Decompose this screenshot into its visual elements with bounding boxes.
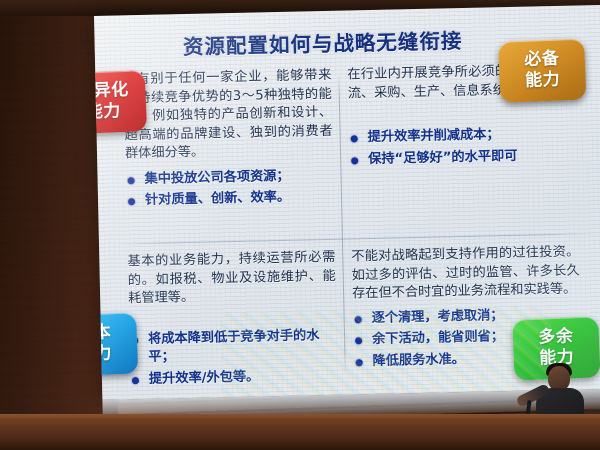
screenshot-root: 资源配置如何与战略无缝衔接 有别于任何一家企业，能够带来可持续竞争优势的3～5种… [0, 0, 600, 450]
bullet-dot-icon [128, 199, 135, 206]
vertical-divider [338, 73, 346, 375]
slide-title: 资源配置如何与战略无缝衔接 [122, 23, 523, 62]
list-item: 提升效率/外包等。 [130, 366, 338, 389]
bullet-text: 集中投放公司各项资源； [144, 169, 289, 187]
horizontal-divider [115, 233, 595, 244]
badge-differentiating-capability: 差异化 能力 [94, 70, 147, 134]
list-item: 提升效率并削减成本； [349, 125, 577, 148]
quadrant-top-left-paragraph: 有别于任何一家企业，能够带来可持续竞争优势的3～5种独特的能力。例如独特的产品创… [123, 67, 333, 164]
badge-line-2: 能力 [503, 69, 582, 93]
bullet-dot-icon [132, 377, 139, 384]
bullet-dot-icon [128, 177, 135, 184]
badge-essential-capability: 必备 能力 [498, 39, 586, 103]
bullet-text: 提升效率并削减成本； [368, 127, 500, 145]
bullet-text: 针对质量、创新、效率。 [145, 190, 290, 208]
quadrant-top-left-bullets: 集中投放公司各项资源； 针对质量、创新、效率。 [125, 167, 334, 211]
bullet-text: 将成本降到低于竞争对手的水平； [148, 328, 320, 365]
quadrant-bottom-left: 基本的业务能力，持续运营所必需的。如报税、物业及设施维护、能耗管理等。 将成本降… [127, 249, 338, 393]
bullet-dot-icon [355, 337, 362, 344]
projection-screen: 资源配置如何与战略无缝衔接 有别于任何一家企业，能够带来可持续竞争优势的3～5种… [94, 5, 600, 421]
list-item: 保持“足够好”的水平即可 [349, 146, 577, 169]
bullet-text: 降低服务水准。 [372, 352, 465, 369]
podium-counter [0, 414, 600, 450]
bullet-dot-icon [355, 316, 362, 323]
bullet-dot-icon [356, 359, 363, 366]
bullet-text: 提升效率/外包等。 [149, 369, 260, 386]
bullet-text: 逐个清理，考虑取消； [371, 308, 503, 326]
quadrant-bottom-left-paragraph: 基本的业务能力，持续运营所必需的。如报税、物业及设施维护、能耗管理等。 [127, 249, 336, 309]
list-item: 集中投放公司各项资源； [125, 167, 333, 190]
bullet-text: 保持“足够好”的水平即可 [368, 148, 518, 166]
bullet-text: 余下活动，能省则省； [372, 329, 504, 347]
list-item: 针对质量、创新、效率。 [126, 188, 334, 211]
badge-line-2: 能力 [94, 100, 143, 124]
quadrant-bottom-right-paragraph: 不能对战略起到支持作用的过往投资。如过多的评估、过时的监管、许多长久存在但不合时… [351, 243, 580, 304]
projection-surface: 资源配置如何与战略无缝衔接 有别于任何一家企业，能够带来可持续竞争优势的3～5种… [94, 5, 600, 400]
quadrant-top-right-bullets: 提升效率并削减成本； 保持“足够好”的水平即可 [349, 125, 578, 170]
quadrant-top-left: 有别于任何一家企业，能够带来可持续竞争优势的3～5种独特的能力。例如独特的产品创… [123, 67, 334, 214]
list-item: 将成本降到低于竞争对手的水平； [129, 327, 338, 368]
bullet-dot-icon [351, 135, 358, 142]
slide-content: 资源配置如何与战略无缝衔接 有别于任何一家企业，能够带来可持续竞争优势的3～5种… [94, 5, 600, 400]
bullet-dot-icon [351, 157, 358, 164]
quadrant-bottom-left-bullets: 将成本降到低于竞争对手的水平； 提升效率/外包等。 [129, 327, 338, 390]
